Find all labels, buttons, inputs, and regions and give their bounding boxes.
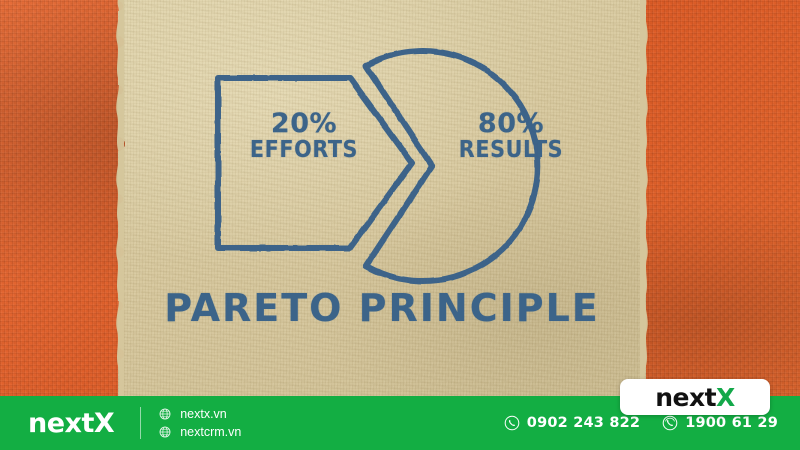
efforts-word: EFFORTS: [234, 138, 374, 162]
brand-badge: next X: [620, 379, 770, 415]
globe-icon: [159, 408, 171, 420]
results-word: RESULTS: [436, 138, 586, 162]
footer-logo: nextX: [28, 408, 114, 439]
results-percent: 80%: [436, 110, 586, 138]
footer-phone-hotline[interactable]: 1900 61 29: [662, 415, 778, 431]
footer-site-nextx-label: nextx.vn: [180, 407, 227, 421]
globe-icon: [159, 426, 171, 438]
brand-badge-text-accent: X: [716, 383, 735, 412]
page-title: PARETO PRINCIPLE: [118, 286, 646, 330]
footer-site-nextx[interactable]: nextx.vn: [159, 407, 241, 421]
pareto-diagram-svg: [200, 48, 600, 278]
results-label-group: 80% RESULTS: [436, 110, 586, 162]
efforts-percent: 20%: [234, 110, 374, 138]
footer-phone-mobile[interactable]: 0902 243 822: [504, 415, 640, 431]
phone-icon: [504, 415, 520, 431]
poster-canvas: 20% EFFORTS 80% RESULTS PARETO PRINCIPLE…: [0, 0, 800, 450]
brand-badge-text-dark: next: [655, 383, 716, 412]
paper-torn-edge-right: [640, 0, 652, 404]
results-pacman-shape: [366, 51, 538, 281]
pareto-diagram: 20% EFFORTS 80% RESULTS: [200, 48, 600, 278]
footer-site-nextcrm[interactable]: nextcrm.vn: [159, 425, 241, 439]
phone-icon: [662, 415, 678, 431]
efforts-pentagon-shape: [218, 78, 412, 248]
footer-phone-mobile-label: 0902 243 822: [527, 415, 640, 431]
footer-phone-hotline-label: 1900 61 29: [685, 415, 778, 431]
footer-website-list: nextx.vn nextcrm.vn: [159, 407, 241, 439]
paper-torn-edge-left: [112, 0, 124, 404]
footer-site-nextcrm-label: nextcrm.vn: [180, 425, 241, 439]
footer-divider: [140, 407, 141, 439]
footer-phone-list: 0902 243 822 1900 61 29: [504, 415, 778, 431]
efforts-label-group: 20% EFFORTS: [234, 110, 374, 162]
